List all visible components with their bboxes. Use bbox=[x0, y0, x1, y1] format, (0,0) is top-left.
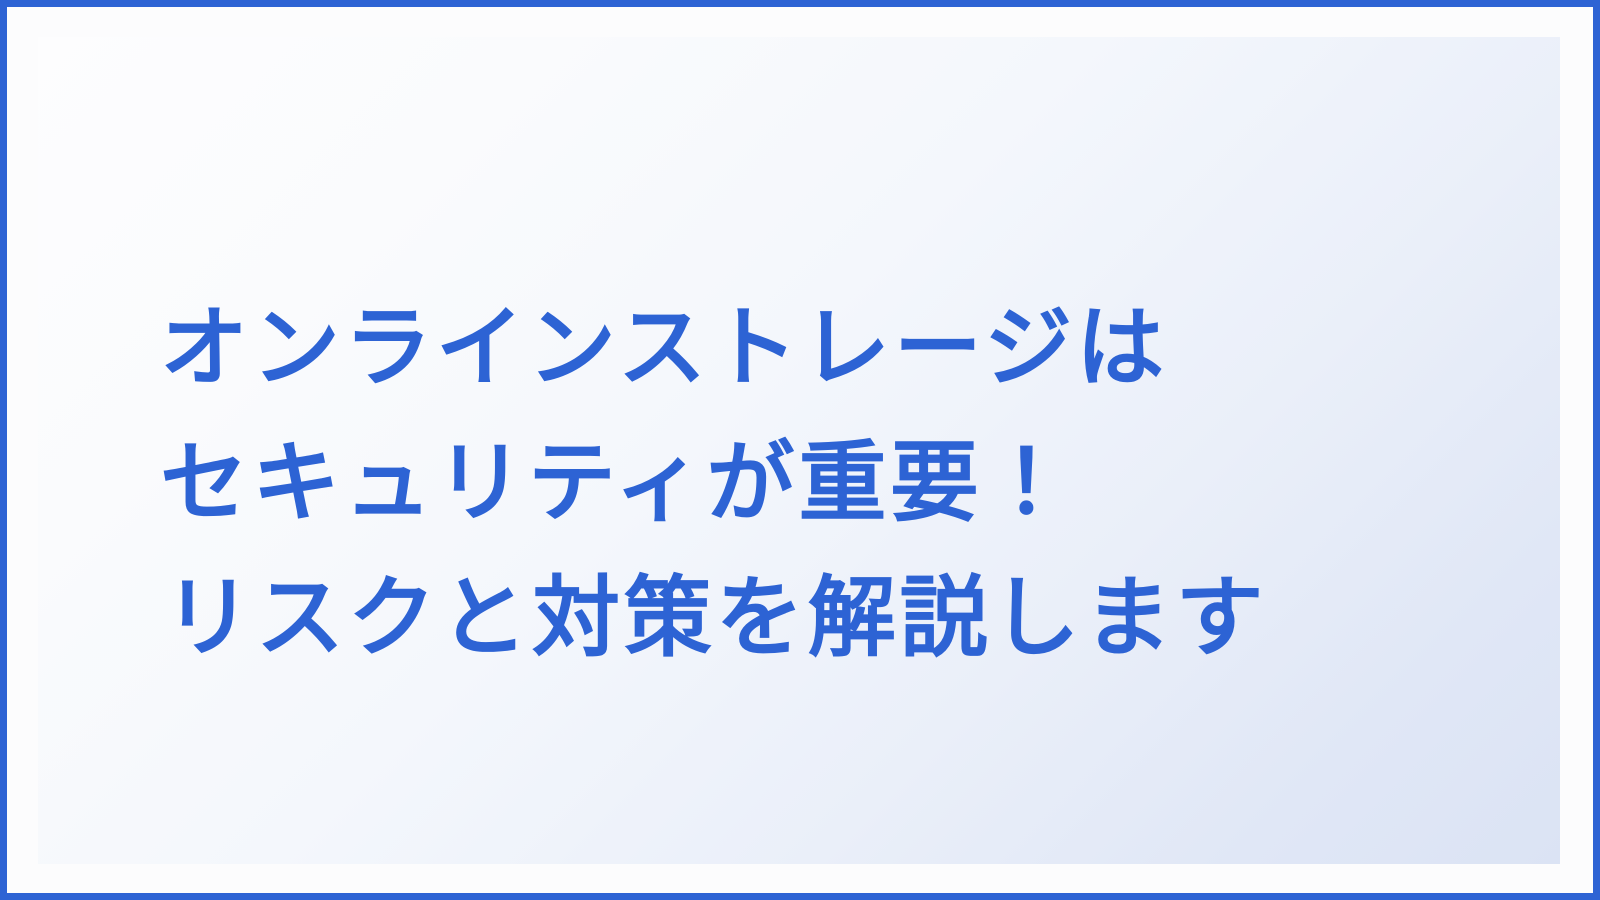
gradient-card-panel: オンラインストレージは セキュリティが重要！ リスクと対策を解説します bbox=[38, 37, 1560, 864]
headline-line-3: リスクと対策を解説します bbox=[160, 550, 1500, 685]
headline-line-2: セキュリティが重要！ bbox=[160, 415, 1500, 550]
headline-line-1: オンラインストレージは bbox=[160, 280, 1500, 415]
title-card-canvas: オンラインストレージは セキュリティが重要！ リスクと対策を解説します bbox=[0, 0, 1600, 900]
page-title: オンラインストレージは セキュリティが重要！ リスクと対策を解説します bbox=[160, 280, 1500, 685]
